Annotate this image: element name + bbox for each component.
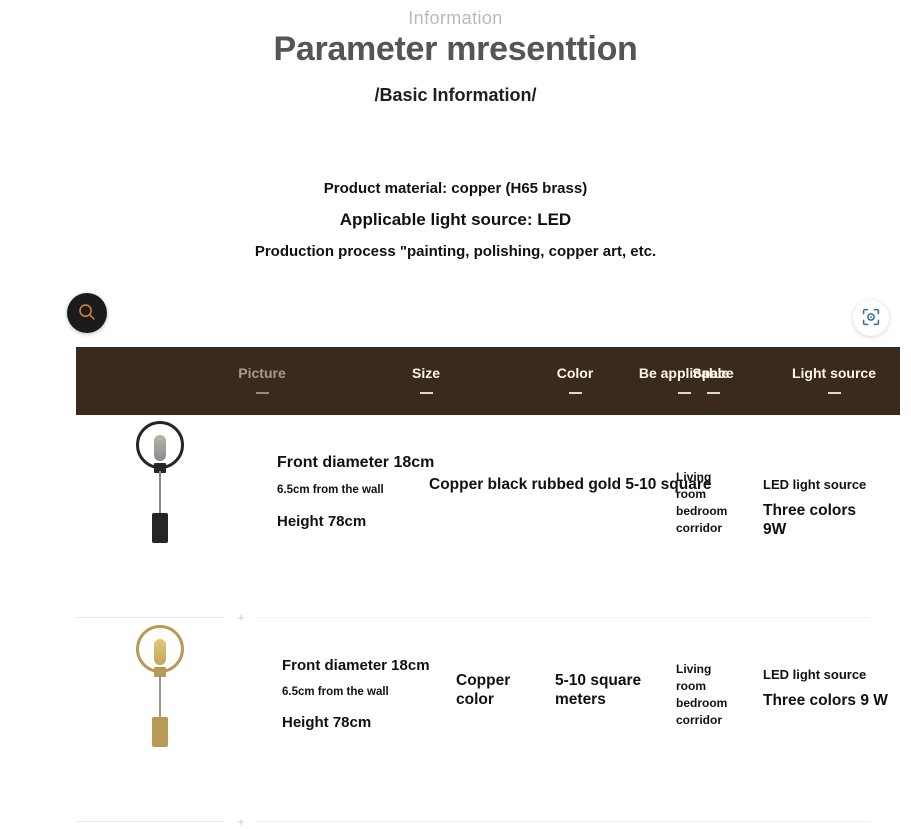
plus-marker-icon: + bbox=[234, 817, 248, 827]
spec-line-light-source: Applicable light source: LED bbox=[0, 210, 911, 230]
banner-subtitle: /Basic Information/ bbox=[0, 85, 911, 106]
cell-color: Copper color bbox=[456, 671, 528, 709]
cell-size-main: Front diameter 18cm bbox=[277, 453, 434, 473]
page-title: Parameter mresenttion bbox=[0, 30, 911, 69]
column-header-light-source: Light source bbox=[724, 365, 911, 394]
image-search-button[interactable] bbox=[853, 300, 889, 336]
table-row[interactable]: Front diameter 18cm 6.5cm from the wall … bbox=[76, 415, 900, 550]
product-thumbnail-black[interactable] bbox=[100, 421, 220, 546]
cell-space: Living room bedroom corridor bbox=[676, 469, 738, 537]
search-icon bbox=[77, 302, 97, 325]
cell-space: Living room bedroom corridor bbox=[676, 661, 738, 729]
cell-light-source-top: LED light source bbox=[763, 477, 903, 493]
cell-size-height: Height 78cm bbox=[277, 513, 366, 532]
cell-size-main: Front diameter 18cm bbox=[282, 657, 430, 676]
header-dash bbox=[707, 392, 720, 394]
search-button[interactable] bbox=[67, 293, 107, 333]
cell-size-wall: 6.5cm from the wall bbox=[282, 685, 389, 699]
cell-be-applicable: 5-10 square meters bbox=[555, 671, 647, 709]
product-thumbnail-gold[interactable] bbox=[100, 625, 220, 750]
banner-eyebrow: Information bbox=[0, 8, 911, 29]
spec-line-material: Product material: copper (H65 brass) bbox=[0, 180, 911, 197]
header-dash bbox=[828, 392, 841, 394]
cell-size-height: Height 78cm bbox=[282, 714, 371, 733]
cell-light-source-top: LED light source bbox=[763, 667, 909, 683]
cell-size-wall: 6.5cm from the wall bbox=[277, 483, 384, 497]
spec-line-process: Production process "painting, polishing,… bbox=[0, 243, 911, 260]
cell-light-source-main: Three colors 9W bbox=[763, 501, 875, 539]
information-banner: Information Parameter mresenttion /Basic… bbox=[0, 0, 911, 290]
ring-pendant-lamp-illustration bbox=[125, 625, 195, 749]
row-divider: + bbox=[76, 817, 900, 827]
header-dash bbox=[256, 392, 269, 394]
column-header-picture: Picture bbox=[202, 365, 322, 394]
image-search-scan-icon bbox=[861, 307, 881, 330]
cell-light-source-main: Three colors 9 W bbox=[763, 691, 891, 710]
table-header-row: Picture Size Color Be applicable Space L… bbox=[76, 347, 900, 415]
specification-table: Picture Size Color Be applicable Space L… bbox=[76, 347, 900, 754]
table-row[interactable]: Front diameter 18cm 6.5cm from the wall … bbox=[76, 619, 900, 754]
ring-pendant-lamp-illustration bbox=[125, 421, 195, 545]
